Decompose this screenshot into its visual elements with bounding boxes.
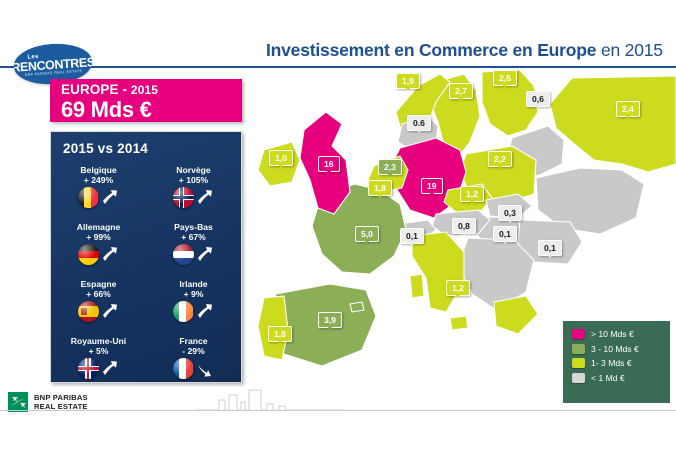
country-change: + 9% (146, 289, 241, 299)
arrow-up-icon (100, 188, 120, 208)
map-value-denmark: 0.6 (407, 115, 431, 131)
country-change: + 67% (146, 232, 241, 242)
legend-swatch-lime-icon (572, 358, 585, 368)
bnp-mark-icon (8, 392, 28, 412)
country-name: Allemagne (51, 222, 146, 232)
country-change: + 99% (51, 232, 146, 242)
comparison-grid: Belgique+ 249%Norvège+ 105%Allemagne+ 99… (51, 165, 241, 393)
arrow-up-icon (100, 245, 120, 265)
legend-swatch-pink-icon (572, 329, 585, 339)
country-change: + 105% (146, 175, 241, 185)
country-name: Royaume-Uni (51, 336, 146, 346)
flag-netherlands-icon (173, 244, 194, 265)
country-name: Norvège (146, 165, 241, 175)
map-value-estonia: 0,6 (526, 91, 550, 107)
flag-uk-icon (78, 358, 99, 379)
legend-item-olive: 3 - 10 Mds € (572, 344, 670, 354)
flag-germany-icon (78, 244, 99, 265)
arrow-up-icon (100, 359, 120, 379)
arrow-up-icon (195, 245, 215, 265)
country-name: France (146, 336, 241, 346)
country-stat-germany: Allemagne+ 99% (51, 222, 146, 279)
flag-spain-icon (78, 301, 99, 322)
arrow-up-icon (100, 302, 120, 322)
bnp-paribas-logo: BNP PARIBAS REAL ESTATE (8, 392, 88, 412)
headline-amount: 69 Mds € (61, 98, 242, 121)
arrow-up-icon (195, 302, 215, 322)
comparison-panel: 2015 vs 2014 Belgique+ 249%Norvège+ 105%… (50, 131, 242, 383)
country-change: + 249% (51, 175, 146, 185)
legend-item-grey: < 1 Md € (572, 373, 670, 383)
arrow-up-icon (195, 188, 215, 208)
country-change: + 5% (51, 346, 146, 356)
country-name: Espagne (51, 279, 146, 289)
country-change: - 29% (146, 346, 241, 356)
legend-swatch-grey-icon (572, 373, 585, 383)
country-stat-norway: Norvège+ 105% (146, 165, 241, 222)
map-value-russia: 2,4 (616, 101, 640, 117)
map-value-italy: 1,2 (446, 280, 470, 296)
arrow-down-icon (195, 359, 215, 379)
map-value-romania: 0,1 (538, 240, 562, 256)
map-value-united-kingdom: 16 (318, 156, 340, 172)
country-stat-spain: Espagne+ 66% (51, 279, 146, 336)
legend-item-pink: > 10 Mds € (572, 329, 670, 339)
map-value-sweden: 2,7 (449, 83, 473, 99)
map-value-austria: 0,8 (452, 218, 476, 234)
skyline-decoration (195, 382, 345, 417)
map-value-ireland: 1,0 (269, 150, 293, 166)
bnp-line-1: BNP PARIBAS (34, 393, 88, 402)
country-stat-ireland: Irlande+ 9% (146, 279, 241, 336)
flag-belgium-icon (78, 187, 99, 208)
country-flag-row (51, 358, 146, 379)
country-name: Irlande (146, 279, 241, 289)
page-title: Investissement en Commerce en Europe en … (266, 40, 663, 61)
map-value-finland: 2,5 (493, 70, 517, 86)
legend-swatch-olive-icon (572, 344, 585, 354)
legend-label: 3 - 10 Mds € (591, 344, 639, 354)
map-value-portugal: 1,8 (268, 326, 292, 342)
country-flag-row (51, 301, 146, 322)
page-title-year: en 2015 (596, 40, 663, 60)
country-change: + 66% (51, 289, 146, 299)
country-flag-row (146, 358, 241, 379)
map-value-slovakia: 0,3 (498, 205, 522, 221)
map-value-switzerland: 0,1 (400, 228, 424, 244)
map-value-norway: 1,9 (396, 73, 420, 89)
country-stat-netherlands: Pays-Bas+ 67% (146, 222, 241, 279)
country-flag-row (146, 187, 241, 208)
headline-year: 2015 (131, 83, 158, 97)
map-value-poland: 2,2 (488, 151, 512, 167)
legend-label: < 1 Md € (591, 373, 625, 383)
legend-label: 1- 3 Mds € (591, 358, 632, 368)
bnp-wordmark: BNP PARIBAS REAL ESTATE (34, 393, 88, 411)
map-value-belgium: 1,8 (368, 180, 392, 196)
country-flag-row (51, 244, 146, 265)
country-flag-row (51, 187, 146, 208)
map-value-germany: 19 (421, 178, 443, 194)
country-stat-belgium: Belgique+ 249% (51, 165, 146, 222)
flag-ireland-icon (173, 301, 194, 322)
map-value-france: 5,0 (355, 226, 379, 242)
country-name: Pays-Bas (146, 222, 241, 232)
map-value-benelux-north: 2,3 (378, 159, 402, 175)
bnp-stars-icon (8, 392, 28, 412)
flag-france-icon (173, 358, 194, 379)
country-flag-row (146, 244, 241, 265)
skyline-icon (195, 382, 345, 412)
country-stat-uk: Royaume-Uni+ 5% (51, 336, 146, 393)
country-flag-row (146, 301, 241, 322)
map-legend: > 10 Mds €3 - 10 Mds €1- 3 Mds €< 1 Md € (563, 321, 670, 403)
page-title-main: Investissement en Commerce en Europe (266, 40, 596, 60)
headline-region-text: EUROPE - (61, 82, 131, 97)
map-value-czech-republic: 1,2 (460, 186, 484, 202)
map-value-hungary: 0,1 (493, 226, 517, 242)
country-name: Belgique (51, 165, 146, 175)
headline-region: EUROPE - 2015 (61, 82, 242, 98)
legend-item-lime: 1- 3 Mds € (572, 358, 670, 368)
headline-box: EUROPE - 2015 69 Mds € (50, 79, 242, 122)
legend-label: > 10 Mds € (591, 329, 634, 339)
comparison-title: 2015 vs 2014 (63, 141, 241, 156)
flag-norway-icon (173, 187, 194, 208)
map-value-spain: 3,9 (318, 312, 342, 328)
